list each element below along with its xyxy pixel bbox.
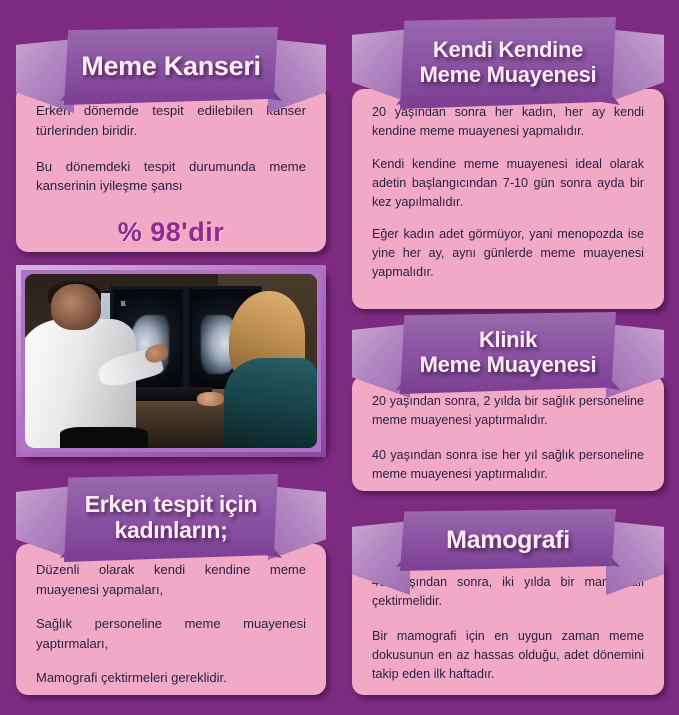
panel-title: Klinik Meme Muayenesi: [414, 328, 603, 377]
paragraph: Kendi kendine meme muayenesi ideal olara…: [372, 155, 644, 212]
panel-title: Kendi Kendine Meme Muayenesi: [414, 38, 603, 87]
card-kendi-kendine: 20 yaşından sonra her kadın, her ay kend…: [352, 89, 664, 309]
infographic-root: Erken dönemde tespit edilebilen kanser t…: [0, 0, 679, 706]
ribbon-plate: Meme Kanseri: [64, 27, 278, 105]
ribbon-kendi-kendine: Kendi Kendine Meme Muayenesi: [352, 17, 664, 109]
panel-title: Meme Kanseri: [75, 51, 266, 81]
paragraph: Düzenli olarak kendi kendine meme muayen…: [36, 560, 306, 599]
paragraph: Mamografi çektirmeleri gereklidir.: [36, 668, 306, 688]
card-meme-kanseri: Erken dönemde tespit edilebilen kanser t…: [16, 85, 326, 252]
panel-title: Mamografi: [440, 526, 576, 554]
mammography-photo-frame: R L: [16, 265, 326, 457]
ribbon-mamografi: Mamografi: [352, 509, 664, 571]
card-erken-tespit: Düzenli olarak kendi kendine meme muayen…: [16, 544, 326, 695]
ribbon-klinik: Klinik Meme Muayenesi: [352, 312, 664, 394]
patient-hand: [197, 392, 223, 406]
panel-erken-tespit: Düzenli olarak kendi kendine meme muayen…: [16, 474, 326, 695]
paragraph: 40 yaşından sonra, iki yılda bir mamogra…: [372, 573, 644, 611]
paragraph: Sağlık personeline meme muayenesi yaptır…: [36, 614, 306, 653]
ribbon-plate: Mamografi: [400, 509, 616, 571]
mammography-photo: R L: [25, 274, 317, 448]
paragraph: Bu dönemdeki tespit durumunda meme kanse…: [36, 157, 306, 197]
ribbon-plate: Klinik Meme Muayenesi: [400, 312, 616, 394]
panel-klinik: 20 yaşından sonra, 2 yılda bir sağlık pe…: [352, 312, 664, 491]
ribbon-erken-tespit: Erken tespit için kadınların;: [16, 474, 326, 562]
card-body-erken-tespit: Düzenli olarak kendi kendine meme muayen…: [16, 544, 326, 715]
chair: [60, 427, 148, 448]
card-body-meme-kanseri: Erken dönemde tespit edilebilen kanser t…: [16, 85, 326, 265]
panel-mamografi: 40 yaşından sonra, iki yılda bir mamogra…: [352, 509, 664, 695]
paragraph: Erken dönemde tespit edilebilen kanser t…: [36, 101, 306, 141]
film-label-r: R: [121, 300, 126, 308]
paragraph: Eğer kadın adet görmüyor, yani menopozda…: [372, 225, 644, 282]
paragraph: Bir mamografi için en uygun zaman meme d…: [372, 627, 644, 684]
ribbon-plate: Erken tespit için kadınların;: [64, 474, 278, 562]
ribbon-meme-kanseri: Meme Kanseri: [16, 27, 326, 105]
ribbon-plate: Kendi Kendine Meme Muayenesi: [400, 17, 616, 109]
stat-accent: % 98'dir: [36, 212, 306, 253]
panel-title: Erken tespit için kadınların;: [79, 492, 264, 544]
ribbon-wing-right: [268, 39, 326, 113]
card-body-kendi-kendine: 20 yaşından sonra her kadın, her ay kend…: [352, 89, 664, 308]
doctor-head: [51, 284, 101, 329]
patient-body: [224, 358, 317, 448]
paragraph: 20 yaşından sonra, 2 yılda bir sağlık pe…: [372, 392, 644, 430]
panel-kendi-kendine: 20 yaşından sonra her kadın, her ay kend…: [352, 17, 664, 309]
paragraph: 40 yaşından sonra ise her yıl sağlık per…: [372, 446, 644, 484]
panel-meme-kanseri: Erken dönemde tespit edilebilen kanser t…: [16, 27, 326, 252]
